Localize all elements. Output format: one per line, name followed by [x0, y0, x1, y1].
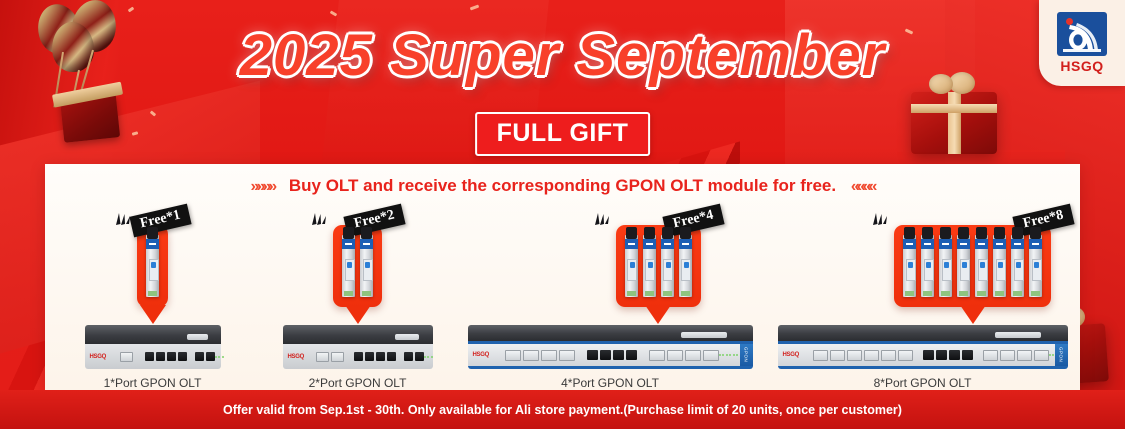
- hsgq-wave-logo-icon: [1057, 12, 1107, 56]
- sfp-module-icon: [643, 235, 656, 297]
- sfp-module-icon: [360, 235, 373, 297]
- chevron-right-icon: »»»»: [251, 178, 275, 195]
- product-caption: 8*Port GPON OLT: [874, 376, 972, 390]
- olt-device-8port: HSGQ: [778, 325, 1068, 369]
- offer-terms-bar: Offer valid from Sep.1st - 30th. Only av…: [0, 390, 1125, 429]
- product-caption: 4*Port GPON OLT: [561, 376, 659, 390]
- sfp-module-icon: [939, 235, 952, 297]
- offer-headline: »»»» Buy OLT and receive the correspondi…: [45, 176, 1080, 196]
- product-item: Free*1 HSGQ: [45, 212, 260, 390]
- device-brand-label: HSGQ: [783, 352, 799, 358]
- product-caption: 2*Port GPON OLT: [309, 376, 407, 390]
- device-brand-label: HSGQ: [288, 354, 304, 360]
- free-module-bubble: Free*2: [333, 225, 382, 307]
- olt-device-1port: HSGQ: [85, 325, 221, 369]
- product-caption: 1*Port GPON OLT: [104, 376, 202, 390]
- product-item: Free*4 HSGQ: [455, 212, 765, 390]
- sfp-module-icon: [957, 235, 970, 297]
- offer-panel: »»»» Buy OLT and receive the correspondi…: [45, 164, 1080, 390]
- product-item: Free*2 HSGQ: [260, 212, 455, 390]
- promo-banner: 2025 Super September FULL GIFT HSGQ »»»»…: [0, 0, 1125, 429]
- sparkle-icon: [868, 211, 890, 229]
- offer-terms-text: Offer valid from Sep.1st - 30th. Only av…: [223, 403, 902, 417]
- brand-logo: HSGQ: [1039, 0, 1125, 86]
- free-quantity-tag: Free*1: [129, 204, 191, 238]
- olt-device-4port: HSGQ: [468, 325, 753, 369]
- sfp-module-icon: [903, 235, 916, 297]
- logo-wave-icon: [1057, 12, 1107, 56]
- device-brand-label: HSGQ: [473, 352, 489, 358]
- olt-device-2port: HSGQ: [283, 325, 433, 369]
- device-side-panel: GPON: [740, 344, 753, 366]
- offer-headline-text: Buy OLT and receive the corresponding GP…: [289, 176, 836, 195]
- logo-text: HSGQ: [1060, 58, 1103, 74]
- full-gift-badge: FULL GIFT: [475, 112, 651, 156]
- sfp-module-icon: [679, 235, 692, 297]
- sfp-module-icon: [661, 235, 674, 297]
- sfp-module-icon: [625, 235, 638, 297]
- sfp-module-icon: [1029, 235, 1042, 297]
- sfp-module-icon: [993, 235, 1006, 297]
- sfp-module-icon: [921, 235, 934, 297]
- sfp-module-icon: [975, 235, 988, 297]
- gift-box-left-decoration: [60, 93, 120, 143]
- gift-ribbon: [948, 92, 961, 154]
- sparkle-icon: [590, 211, 612, 229]
- product-list: Free*1 HSGQ: [45, 212, 1080, 390]
- product-item: Free*8 HSGQ: [765, 212, 1080, 390]
- page-title: 2025 Super September: [0, 22, 1125, 89]
- logo-red-dot-icon: [1066, 18, 1073, 25]
- device-brand-label: HSGQ: [90, 354, 106, 360]
- free-module-bubble: Free*4: [616, 225, 701, 307]
- gift-ribbon: [911, 104, 997, 113]
- free-module-bubble: Free*8: [894, 225, 1051, 307]
- sfp-module-icon: [342, 235, 355, 297]
- sfp-module-icon: [1011, 235, 1024, 297]
- sparkle-icon: [307, 211, 329, 229]
- device-side-panel: GPON: [1055, 344, 1068, 366]
- free-module-bubble: Free*1: [137, 225, 168, 307]
- chevron-left-icon: ««««: [851, 178, 875, 195]
- sfp-module-icon: [146, 235, 159, 297]
